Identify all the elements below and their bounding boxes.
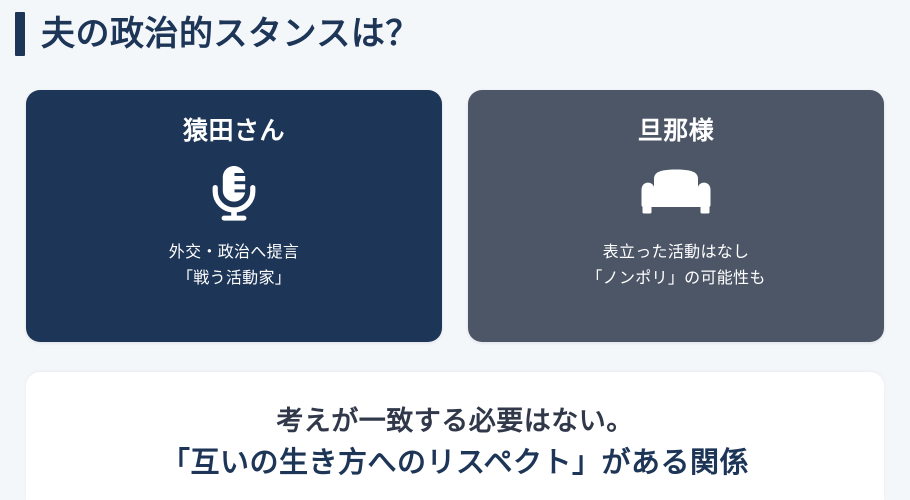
person-desc-saruta: 外交・政治へ提言 「戦う活動家」 — [169, 240, 299, 293]
page-title-row: 夫の政治的スタンスは？ — [15, 10, 420, 58]
person-card-saruta[interactable]: 猿田さん 外交・政治へ提言 — [26, 90, 442, 342]
conclusion-panel: 考えが一致する必要はない。 「互いの生き方へのリスペクト」がある関係 — [26, 372, 884, 500]
person-desc-saruta-line1: 外交・政治へ提言 — [169, 240, 299, 266]
comparison-card-row: 猿田さん 外交・政治へ提言 — [26, 90, 884, 342]
person-name-danna: 旦那様 — [638, 116, 715, 146]
person-name-saruta: 猿田さん — [183, 116, 285, 146]
conclusion-line-2: 「互いの生き方へのリスペクト」がある関係 — [161, 445, 749, 483]
person-desc-danna: 表立った活動はなし 「ノンポリ」の可能性も — [586, 240, 765, 293]
slide-root: 夫の政治的スタンスは？ 猿田さん — [0, 0, 910, 500]
couch-icon — [639, 162, 713, 224]
person-desc-danna-line2: 「ノンポリ」の可能性も — [586, 266, 765, 292]
person-desc-danna-line1: 表立った活動はなし — [586, 240, 765, 266]
microphone-icon — [208, 162, 260, 224]
person-desc-saruta-line2: 「戦う活動家」 — [169, 266, 299, 292]
person-card-danna[interactable]: 旦那様 表立った活動 — [468, 90, 884, 342]
conclusion-line-1: 考えが一致する必要はない。 — [276, 404, 634, 439]
page-title: 夫の政治的スタンスは？ — [41, 17, 420, 51]
title-accent-bar — [15, 12, 25, 56]
